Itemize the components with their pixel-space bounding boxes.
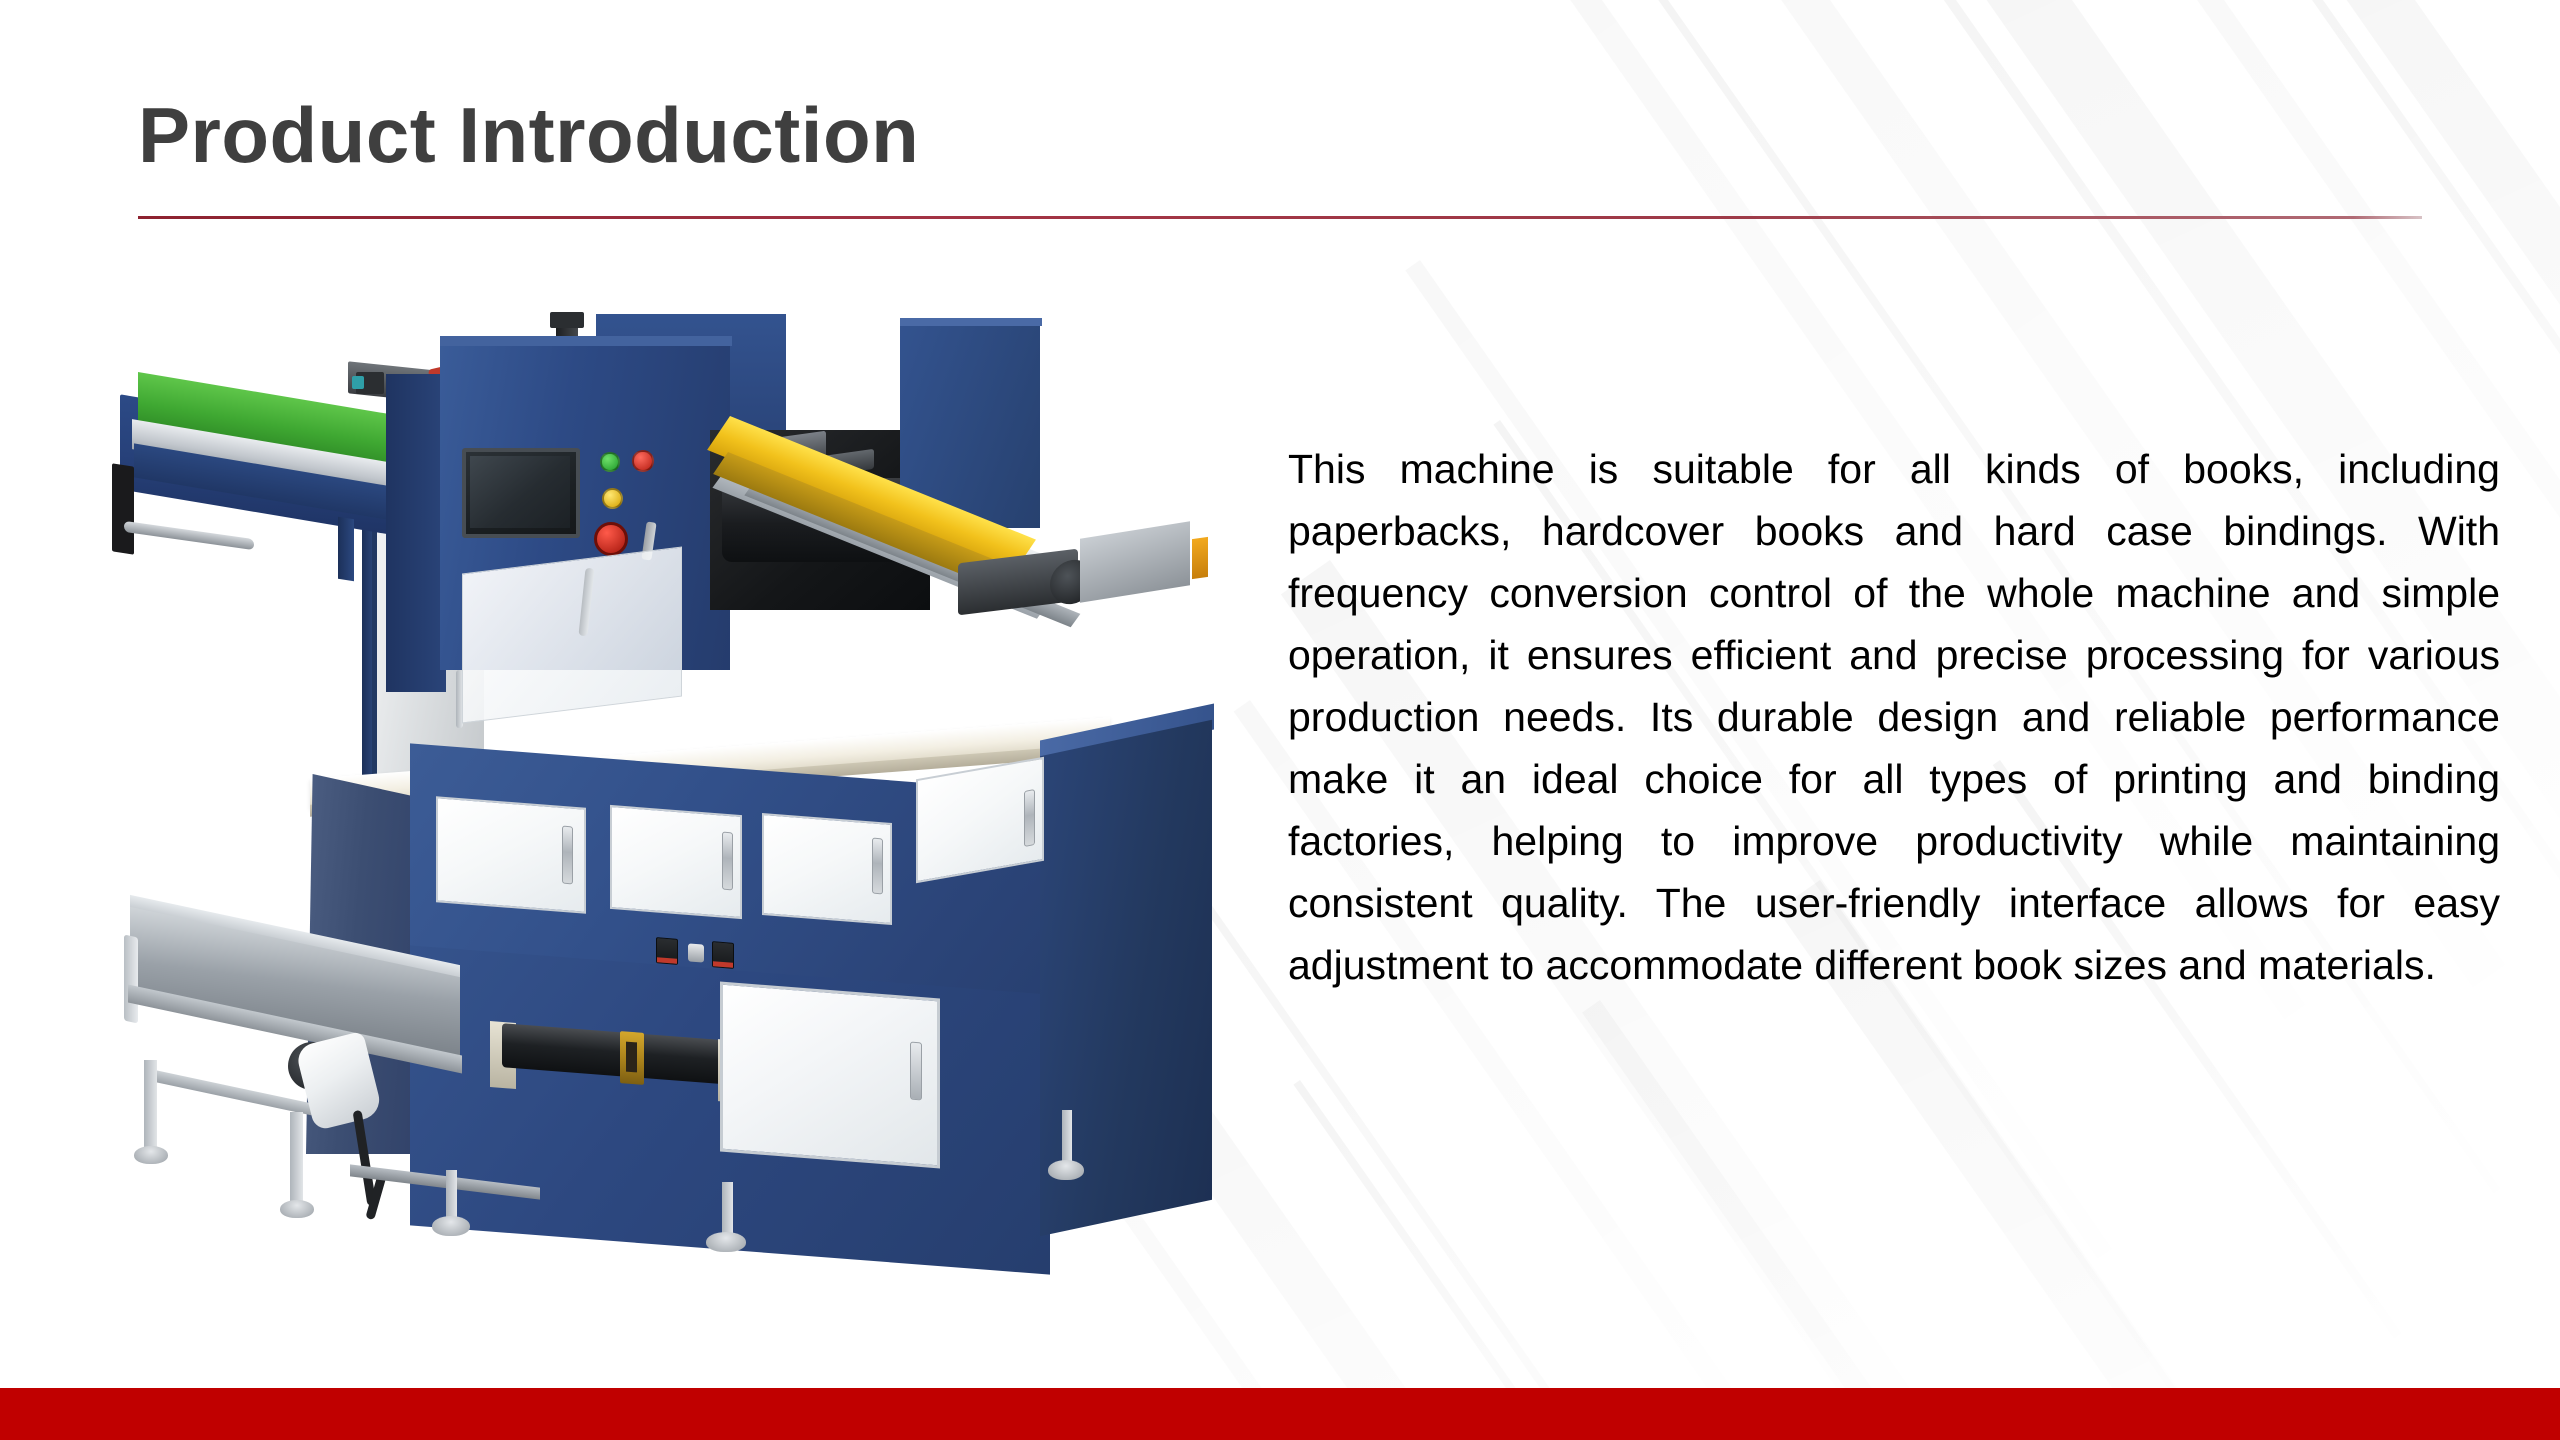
- window-handle-icon: [722, 832, 733, 891]
- window-handle-icon: [1024, 789, 1035, 847]
- sensor-post-cap: [550, 312, 584, 328]
- outfeed-conveyor-leg: [290, 1112, 303, 1208]
- motor-gearbox: [1080, 521, 1190, 602]
- title-divider-rule: [138, 216, 2422, 219]
- product-photo: [110, 370, 1250, 1280]
- stop-button-red: [632, 450, 654, 472]
- door-latch-core: [626, 1042, 637, 1073]
- machine-right-tower-edge: [900, 318, 1042, 326]
- conveyor-end-cap: [112, 463, 134, 554]
- window-handle-icon: [872, 838, 883, 895]
- reset-button-yellow: [602, 488, 623, 509]
- outfeed-conveyor-rail: [124, 935, 138, 1024]
- slide: Product Introduction: [0, 0, 2560, 1440]
- leveling-foot-stem: [1062, 1110, 1072, 1164]
- leveling-foot: [1048, 1160, 1084, 1180]
- ramp-orange-marker: [1192, 537, 1208, 579]
- leveling-foot-stem: [446, 1170, 457, 1220]
- outfeed-conveyor-crossbar: [146, 1068, 314, 1116]
- outfeed-conveyor-leg: [144, 1060, 157, 1152]
- hmi-screen-glass: [470, 456, 570, 528]
- lower-door-handle-icon: [910, 1042, 922, 1101]
- leveling-foot: [706, 1232, 746, 1252]
- conveyor-support-leg: [338, 517, 354, 582]
- rotary-knob: [688, 943, 704, 962]
- window-handle-icon: [562, 826, 573, 885]
- product-description-paragraph: This machine is suitable for all kinds o…: [1288, 438, 2500, 996]
- page-title: Product Introduction: [138, 96, 919, 174]
- emergency-stop-button: [594, 522, 628, 556]
- leveling-foot: [432, 1216, 470, 1236]
- leveling-foot: [280, 1200, 314, 1218]
- footer-accent-bar: [0, 1388, 2560, 1440]
- transparent-guard-panel: [462, 546, 682, 723]
- machine-tower-top-edge: [440, 336, 732, 346]
- start-button-green: [600, 452, 620, 472]
- lower-access-door: [720, 982, 940, 1169]
- sensor-indicator-icon: [352, 376, 364, 389]
- machine-tower-left-face: [386, 374, 446, 692]
- leveling-foot-stem: [722, 1182, 733, 1236]
- conveyor-roller: [124, 521, 254, 550]
- leveling-foot: [134, 1146, 168, 1164]
